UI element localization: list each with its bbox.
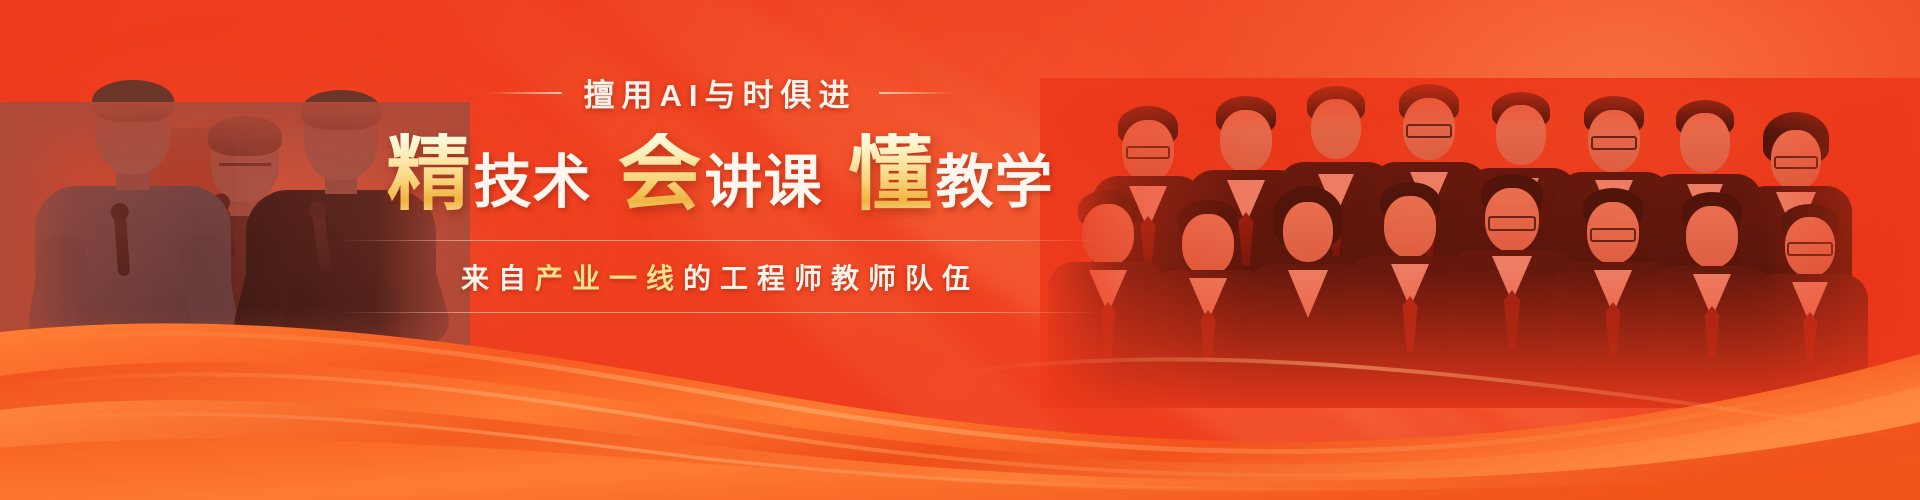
- glasses-icon: [1591, 136, 1637, 150]
- glasses-icon: [1774, 156, 1818, 169]
- banner-copy-block: 擅用AI与时俱进 精 技术 会 讲课 懂 教学 来自产业一线的工程师教师队伍: [340, 70, 1100, 313]
- subtitle-before: 来自: [461, 263, 535, 294]
- face: [1384, 196, 1436, 258]
- tagline-rule-right: [879, 92, 953, 94]
- tagline-text: 擅用AI与时俱进: [584, 70, 857, 115]
- glasses-icon: [1126, 146, 1170, 159]
- subtitle-block: 来自产业一线的工程师教师队伍: [340, 240, 1100, 313]
- face: [1283, 202, 1333, 262]
- headline-detail-2: 讲课: [705, 154, 823, 212]
- headline-segment-2: 会 讲课: [617, 133, 822, 214]
- subtitle-highlight: 产业一线: [535, 263, 683, 294]
- headline-segment-3: 懂 教学: [849, 133, 1054, 214]
- faculty-promo-banner: 擅用AI与时俱进 精 技术 会 讲课 懂 教学 来自产业一线的工程师教师队伍: [0, 0, 1920, 500]
- instructor-left-hair: [92, 80, 174, 122]
- tagline-rule-left: [488, 92, 562, 94]
- headline-keyword-2: 会: [617, 133, 702, 214]
- headline: 精 技术 会 讲课 懂 教学: [340, 133, 1100, 214]
- headline-detail-1: 技术: [473, 154, 591, 212]
- face: [1686, 206, 1738, 268]
- subtitle-after: 的工程师教师队伍: [683, 263, 979, 294]
- tagline-row: 擅用AI与时俱进: [340, 70, 1100, 115]
- headline-keyword-1: 精: [386, 133, 471, 214]
- headline-segment-1: 精 技术: [386, 133, 591, 214]
- face: [1311, 99, 1361, 159]
- headline-keyword-3: 懂: [849, 133, 934, 214]
- face: [1680, 113, 1730, 173]
- face: [1220, 110, 1272, 172]
- glasses-icon: [1488, 216, 1536, 231]
- glasses-icon: [1406, 124, 1452, 138]
- face: [1182, 214, 1234, 276]
- bottom-silk-waves: [0, 280, 1920, 500]
- face: [1496, 105, 1546, 165]
- headline-detail-3: 教学: [936, 154, 1054, 212]
- subtitle-text: 来自产业一线的工程师教师队伍: [340, 241, 1100, 312]
- glasses-icon: [1590, 228, 1636, 242]
- subtitle-rule-bottom: [340, 312, 1100, 313]
- glasses-icon: [1787, 242, 1833, 256]
